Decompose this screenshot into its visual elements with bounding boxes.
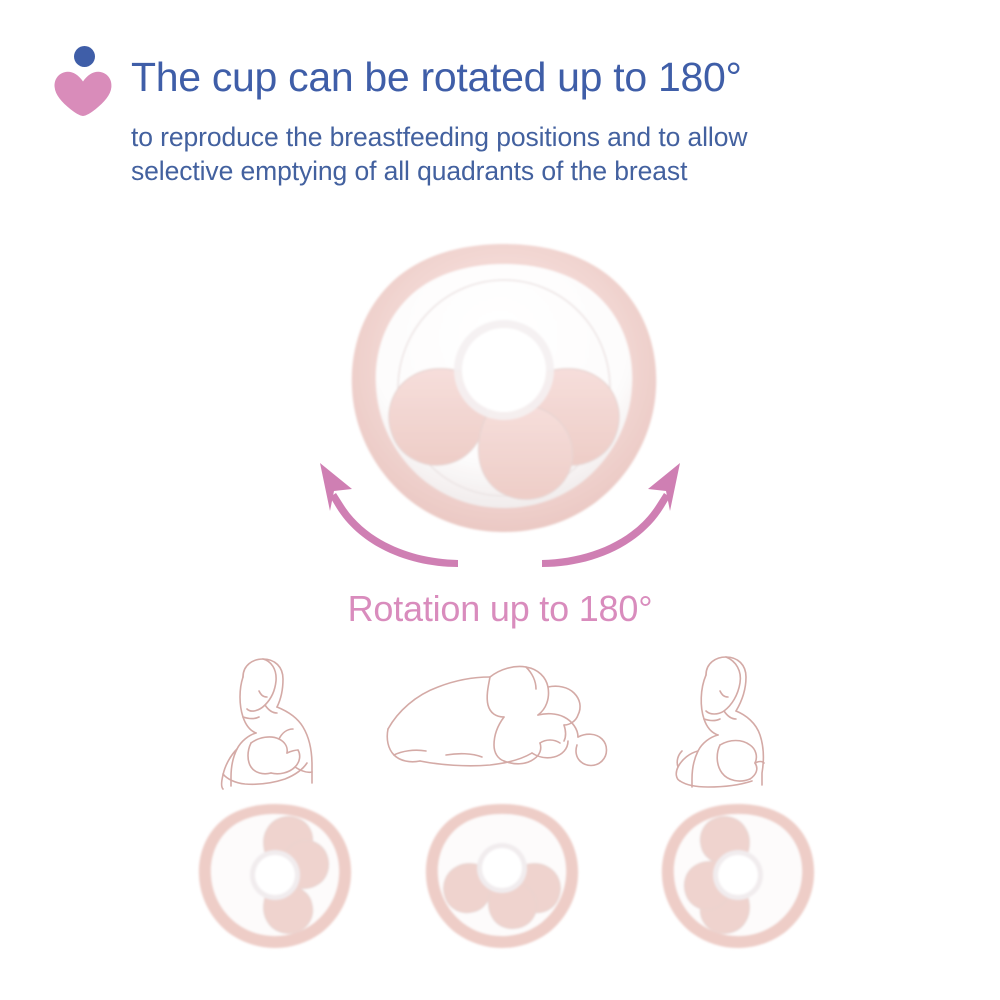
football-hold-position-icon (620, 655, 860, 790)
subtitle-line-1: to reproduce the breastfeeding positions… (131, 120, 971, 154)
page-subtitle: to reproduce the breastfeeding positions… (131, 120, 971, 188)
cradle-hold-position-icon (155, 655, 395, 790)
breast-shield-cup-mini-3 (658, 800, 818, 960)
cup-center-hole (462, 328, 546, 412)
breast-shield-cup-mini-1 (195, 800, 355, 960)
position-column-1 (155, 655, 395, 965)
page-title: The cup can be rotated up to 180° (131, 54, 742, 101)
side-lying-position-icon (380, 655, 620, 790)
rotation-label: Rotation up to 180° (0, 588, 1000, 630)
infographic-page: The cup can be rotated up to 180° to rep… (0, 0, 1000, 1000)
heart-with-dot-icon (54, 46, 112, 114)
breast-shield-cup-mini-2 (422, 800, 582, 960)
subtitle-line-2: selective emptying of all quadrants of t… (131, 154, 971, 188)
heart-icon (54, 69, 112, 116)
header-block: The cup can be rotated up to 180° to rep… (0, 0, 1000, 215)
position-column-2 (380, 655, 620, 965)
curved-arrow-up-left-icon (320, 463, 458, 567)
brand-dot-icon (74, 46, 95, 67)
curved-arrow-up-right-icon (542, 463, 680, 567)
positions-row (0, 655, 1000, 975)
rotation-arrows (290, 455, 710, 575)
position-column-3 (620, 655, 860, 965)
